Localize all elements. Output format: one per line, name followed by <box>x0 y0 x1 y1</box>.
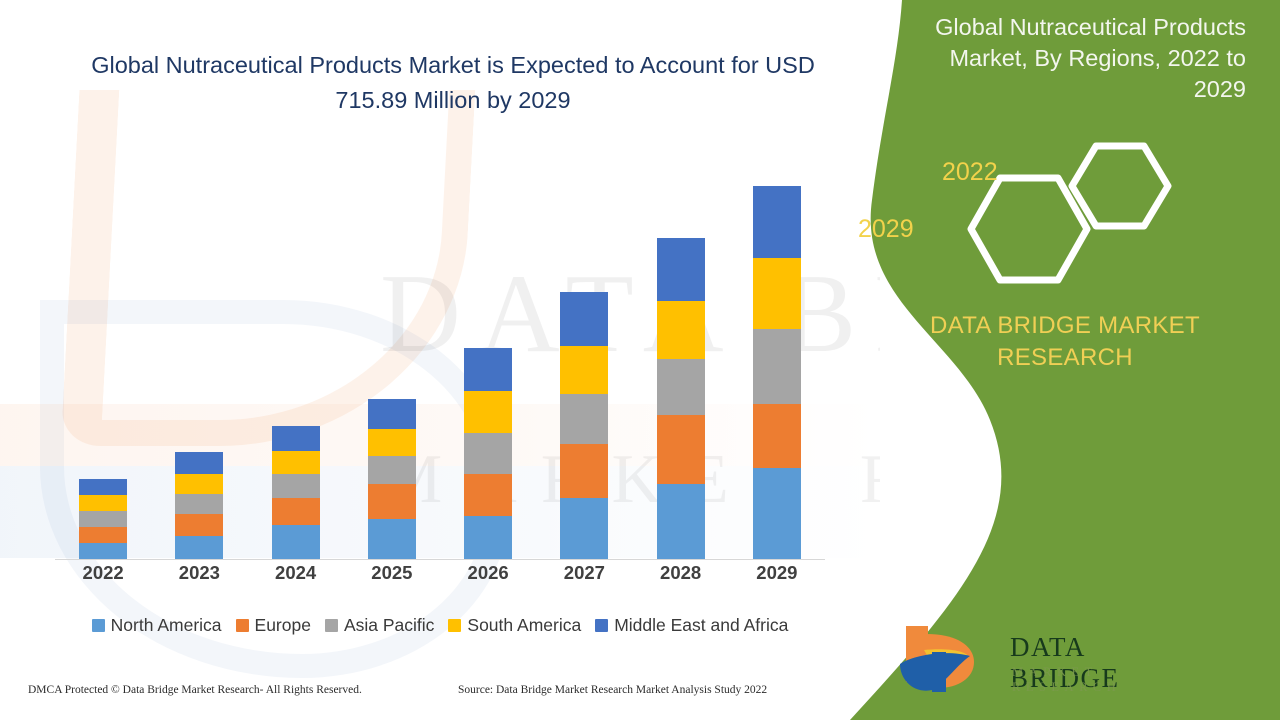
bar-segment <box>657 415 705 484</box>
legend-swatch-icon <box>236 619 249 632</box>
right-green-panel: Global Nutraceutical Products Market, By… <box>840 0 1280 720</box>
bar-stack-2024 <box>272 426 320 559</box>
bar-column <box>536 172 632 559</box>
bar-stack-2025 <box>368 399 416 559</box>
bar-column <box>729 172 825 559</box>
legend-swatch-icon <box>595 619 608 632</box>
bar-stack-2023 <box>175 452 223 559</box>
bar-segment <box>464 391 512 433</box>
x-axis-label: 2022 <box>55 562 151 584</box>
bar-stack-2027 <box>560 292 608 559</box>
bar-segment <box>560 444 608 498</box>
bar-segment <box>272 498 320 525</box>
panel-title: Global Nutraceutical Products Market, By… <box>894 12 1246 105</box>
bar-segment <box>464 474 512 516</box>
bar-column <box>440 172 536 559</box>
bar-segment <box>368 429 416 456</box>
bar-segment <box>368 484 416 519</box>
bar-segment <box>272 474 320 498</box>
x-axis-line <box>55 559 825 560</box>
stacked-bar-chart <box>55 170 825 560</box>
legend-swatch-icon <box>325 619 338 632</box>
x-axis-label: 2023 <box>151 562 247 584</box>
bar-segment <box>175 452 223 474</box>
legend-label: Europe <box>255 615 311 636</box>
bar-column <box>633 172 729 559</box>
bar-segment <box>175 514 223 536</box>
bar-stack-2029 <box>753 186 801 559</box>
bar-segment <box>464 433 512 474</box>
bar-group <box>55 172 825 559</box>
x-axis-labels: 20222023202420252026202720282029 <box>55 562 825 584</box>
legend-label: North America <box>111 615 222 636</box>
bar-segment <box>175 474 223 494</box>
bar-segment <box>753 258 801 329</box>
hexagon-graphic <box>958 128 1178 288</box>
bar-segment <box>368 399 416 429</box>
bar-column <box>248 172 344 559</box>
legend-item[interactable]: North America <box>92 615 222 636</box>
bar-segment <box>657 238 705 301</box>
bar-segment <box>560 394 608 444</box>
bar-stack-2026 <box>464 348 512 559</box>
bar-segment <box>79 495 127 511</box>
legend-item[interactable]: South America <box>448 615 581 636</box>
data-bridge-logo: DATA BRIDGE MARKET RESEARCH <box>898 620 1198 704</box>
bar-segment <box>560 292 608 346</box>
bar-column <box>344 172 440 559</box>
legend-item[interactable]: Middle East and Africa <box>595 615 788 636</box>
hexagon-2029-outline <box>971 178 1087 280</box>
bar-segment <box>272 426 320 451</box>
bar-segment <box>175 536 223 559</box>
x-axis-label: 2028 <box>633 562 729 584</box>
logo-subtitle: MARKET RESEARCH <box>1012 665 1198 695</box>
bar-segment <box>175 494 223 514</box>
x-axis-label: 2027 <box>536 562 632 584</box>
logo-mark-icon <box>898 620 1008 700</box>
footer-copyright: DMCA Protected © Data Bridge Market Rese… <box>28 684 362 696</box>
hexagon-label-2022: 2022 <box>942 158 998 187</box>
legend-item[interactable]: Europe <box>236 615 311 636</box>
bar-segment <box>753 186 801 258</box>
bar-stack-2022 <box>79 479 127 559</box>
chart-legend: North AmericaEuropeAsia PacificSouth Ame… <box>55 615 825 636</box>
bar-segment <box>79 543 127 559</box>
bar-segment <box>560 498 608 559</box>
page-title: Global Nutraceutical Products Market is … <box>60 48 846 118</box>
footer-source: Source: Data Bridge Market Research Mark… <box>458 684 767 696</box>
brand-name: DATA BRIDGE MARKET RESEARCH <box>920 310 1210 374</box>
bar-segment <box>272 451 320 474</box>
chart-plot-area <box>55 172 825 560</box>
bar-segment <box>79 511 127 527</box>
legend-label: Asia Pacific <box>344 615 434 636</box>
bar-segment <box>464 516 512 559</box>
bar-segment <box>753 404 801 468</box>
hexagon-label-2029: 2029 <box>858 215 914 244</box>
bar-column <box>55 172 151 559</box>
bar-segment <box>657 301 705 359</box>
bar-segment <box>753 468 801 559</box>
legend-label: South America <box>467 615 581 636</box>
x-axis-label: 2026 <box>440 562 536 584</box>
bar-segment <box>79 479 127 495</box>
legend-item[interactable]: Asia Pacific <box>325 615 434 636</box>
bar-segment <box>657 484 705 559</box>
hexagon-2022-outline <box>1072 146 1168 226</box>
legend-swatch-icon <box>92 619 105 632</box>
bar-segment <box>368 519 416 559</box>
x-axis-label: 2029 <box>729 562 825 584</box>
bar-segment <box>79 527 127 543</box>
x-axis-label: 2025 <box>344 562 440 584</box>
bar-segment <box>464 348 512 391</box>
x-axis-label: 2024 <box>248 562 344 584</box>
bar-segment <box>368 456 416 484</box>
legend-label: Middle East and Africa <box>614 615 788 636</box>
bar-segment <box>657 359 705 415</box>
legend-swatch-icon <box>448 619 461 632</box>
bar-segment <box>753 329 801 404</box>
bar-column <box>151 172 247 559</box>
bar-stack-2028 <box>657 238 705 559</box>
bar-segment <box>560 346 608 394</box>
bar-segment <box>272 525 320 559</box>
